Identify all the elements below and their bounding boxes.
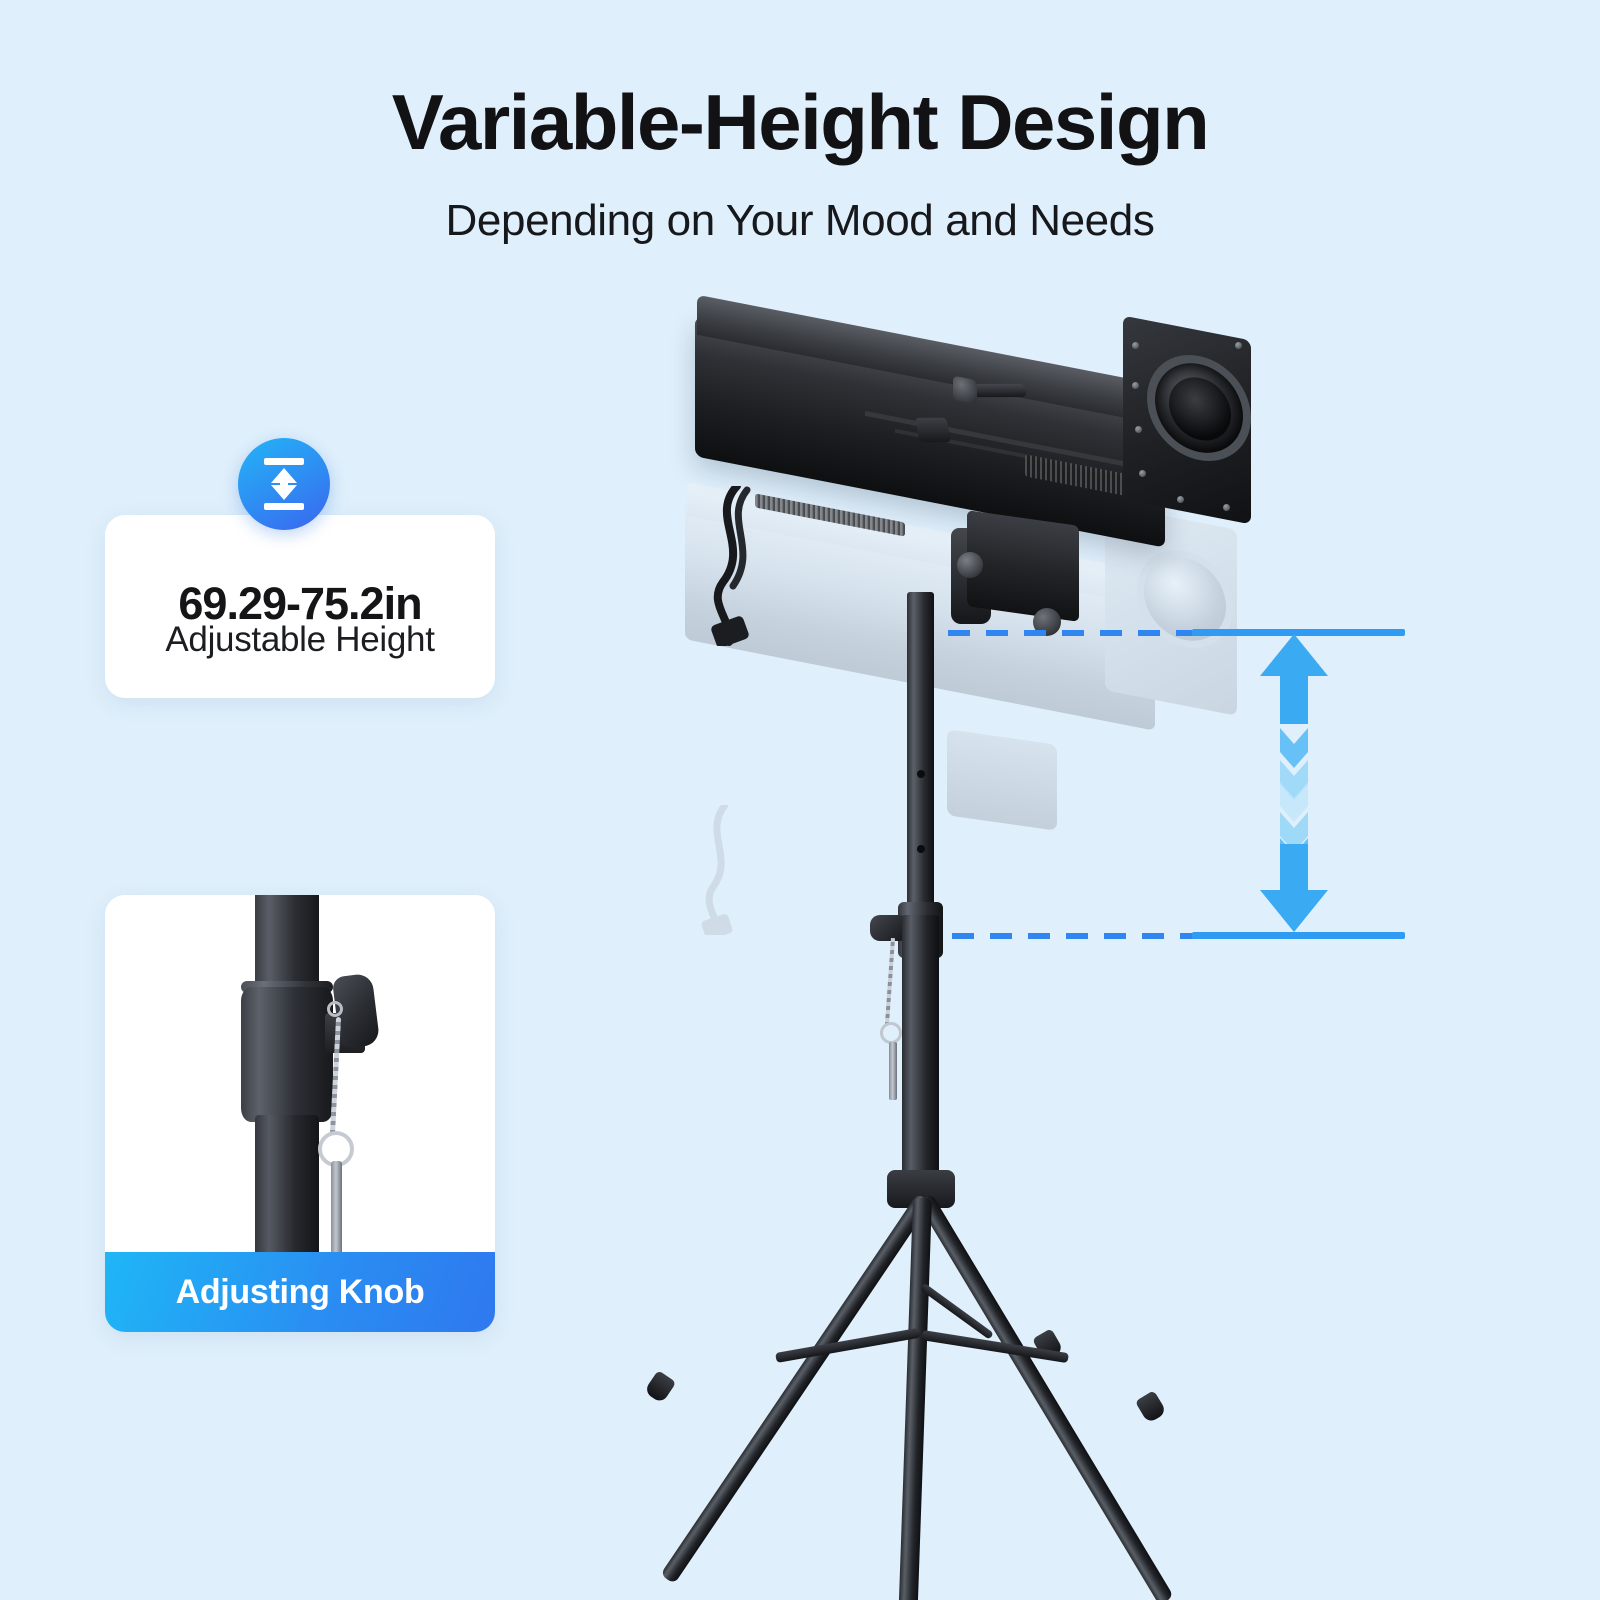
- page-title: Variable-Height Design: [0, 82, 1600, 163]
- upper-dashed-connector: [948, 630, 1198, 636]
- lower-dashed-connector: [952, 933, 1198, 939]
- tripod-leg-right: [917, 1194, 1174, 1600]
- tripod-foot-left: [644, 1370, 677, 1404]
- page-subtitle: Depending on Your Mood and Needs: [0, 196, 1600, 246]
- pole-height-hole: [917, 770, 925, 778]
- ghost-yoke-bracket: [947, 729, 1057, 830]
- knob-photo-ring-icon: [327, 1001, 343, 1017]
- infographic-canvas: Variable-Height Design Depending on Your…: [0, 0, 1600, 1600]
- vent-grille-2-icon: [755, 493, 905, 536]
- pole-height-hole: [917, 845, 925, 853]
- tripod-leg-center: [899, 1198, 932, 1600]
- adjusting-knob-caption: Adjusting Knob: [105, 1252, 495, 1332]
- tripod-leg-left: [660, 1193, 931, 1584]
- tripod-foot-right: [1135, 1390, 1167, 1424]
- knob-chain-icon: [885, 938, 895, 1024]
- plate-screw: [1135, 426, 1142, 433]
- knob-keyring-icon: [880, 1022, 902, 1044]
- plate-screw: [1177, 496, 1184, 503]
- housing-clip: [915, 418, 951, 442]
- knob-pin-icon: [889, 1042, 897, 1100]
- plate-screw: [1139, 470, 1146, 477]
- adjusting-knob-card: Adjusting Knob: [105, 895, 495, 1332]
- yoke-tilt-bolt[interactable]: [957, 552, 983, 578]
- stand-lower-pole: [902, 915, 939, 1197]
- power-cord-icon: [703, 486, 773, 646]
- tripod-strut-left: [775, 1328, 921, 1363]
- plate-screw: [1235, 342, 1242, 349]
- spotlight-head: [695, 290, 1295, 610]
- focus-lever-knob[interactable]: [953, 376, 977, 405]
- plate-screw: [1132, 382, 1139, 389]
- adjustable-height-label: Adjustable Height: [0, 620, 600, 660]
- plate-screw: [1223, 504, 1230, 511]
- stand-adjusting-knob[interactable]: [870, 915, 904, 941]
- plate-screw: [1132, 342, 1139, 349]
- ghost-power-cord-icon: [695, 805, 755, 935]
- yoke-bracket: [967, 510, 1079, 622]
- knob-photo-collar: [241, 987, 333, 1122]
- height-adjust-icon: [238, 438, 330, 530]
- stand-upper-pole: [907, 592, 934, 922]
- product-illustration: [600, 270, 1600, 1590]
- vertical-double-arrow-icon: [1248, 632, 1340, 934]
